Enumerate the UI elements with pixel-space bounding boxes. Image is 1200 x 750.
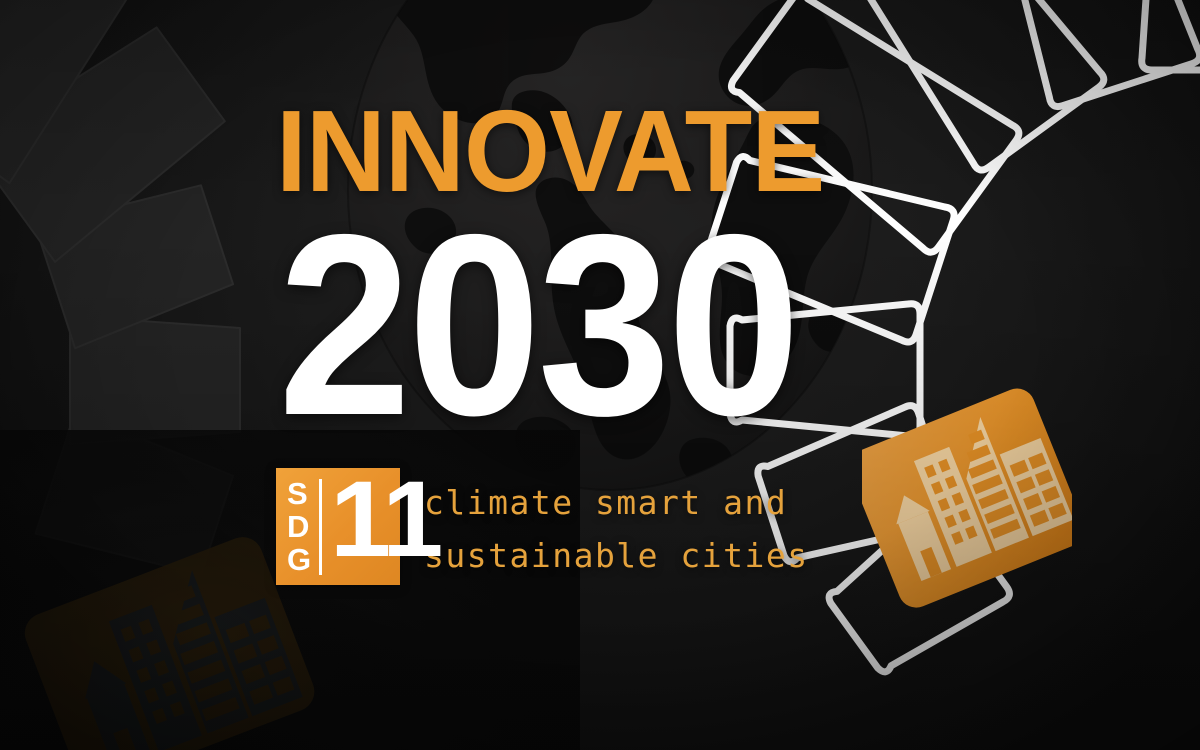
sdg-letter-d: D bbox=[287, 511, 311, 542]
sdg-letter-g: G bbox=[287, 544, 311, 575]
sdg-goal-number: 11 bbox=[330, 469, 440, 578]
sdg-badge-letters: S D G bbox=[287, 476, 311, 578]
poster-content: INNOVATE 2030 S D G 11 climate smart and… bbox=[0, 0, 1200, 750]
sdg-letter-s: S bbox=[287, 478, 311, 509]
headline-year: 2030 bbox=[278, 206, 797, 443]
sdg-badge: S D G 11 bbox=[276, 468, 400, 585]
tagline-line-1: climate smart and bbox=[424, 483, 787, 522]
tagline: climate smart and sustainable cities bbox=[424, 468, 809, 583]
sdg-lockup: S D G 11 climate smart and sustainable c… bbox=[276, 468, 809, 585]
poster-canvas: INNOVATE 2030 S D G 11 climate smart and… bbox=[0, 0, 1200, 750]
tagline-line-2: sustainable cities bbox=[424, 529, 809, 582]
sdg-badge-divider bbox=[319, 479, 322, 575]
